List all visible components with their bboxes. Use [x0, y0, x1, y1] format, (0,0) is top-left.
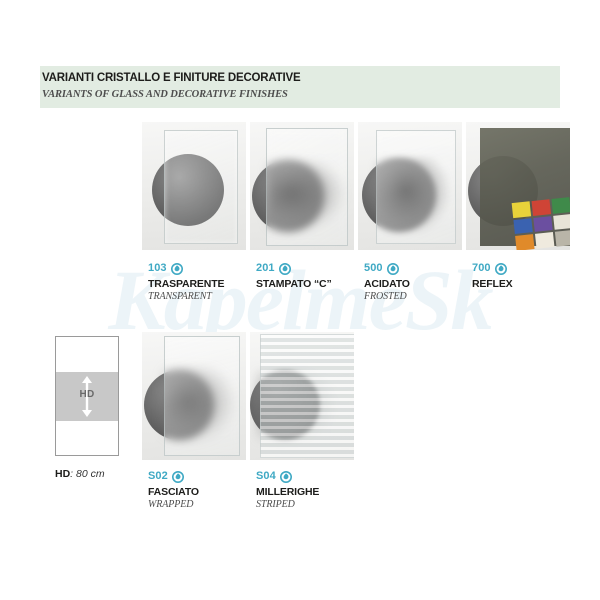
swatch-caption-S02: S02 FASCIATO WRAPPED: [148, 468, 258, 510]
swatch-image-S04[interactable]: [250, 332, 354, 460]
swatch-name-it: ACIDATO: [364, 278, 474, 290]
swatch-code: 500: [364, 262, 383, 274]
page-subtitle: VARIANTS OF GLASS AND DECORATIVE FINISHE…: [42, 89, 288, 100]
swatch-code: 700: [472, 262, 491, 274]
color-checker: [512, 197, 570, 250]
glass-plate: [260, 334, 354, 458]
swatch-image-700[interactable]: [466, 122, 570, 250]
color-chip: [533, 216, 552, 232]
color-chip: [551, 197, 570, 213]
swatch-code: 201: [256, 262, 275, 274]
swatch-caption-201: 201 STAMPATO “C”: [256, 260, 366, 291]
swatch-name-en: TRANSPARENT: [148, 291, 258, 302]
page-title: VARIANTI CRISTALLO E FINITURE DECORATIVE: [42, 72, 300, 84]
color-chip: [535, 232, 554, 248]
color-chip: [512, 201, 531, 217]
swatch-name-it: FASCIATO: [148, 486, 258, 498]
swatch-name-en: WRAPPED: [148, 499, 258, 510]
hd-arrow-label: HD: [79, 389, 94, 400]
droplet-circle-icon: [171, 262, 183, 274]
swatch-name-it: STAMPATO “C”: [256, 278, 366, 290]
catalog-page: VARIANTI CRISTALLO E FINITURE DECORATIVE…: [0, 0, 600, 600]
glass-plate: [164, 130, 238, 244]
color-chip: [515, 234, 534, 250]
color-chip: [555, 230, 570, 246]
swatch-name-it: MILLERIGHE: [256, 486, 366, 498]
swatch-image-103[interactable]: [142, 122, 246, 250]
color-chip: [532, 199, 551, 215]
droplet-circle-icon: [172, 470, 184, 482]
hd-caption-label: HD: [55, 468, 70, 480]
droplet-circle-icon: [280, 470, 292, 482]
swatch-name-it: REFLEX: [472, 278, 582, 290]
color-chip: [513, 218, 532, 234]
swatch-name-en: STRIPED: [256, 499, 366, 510]
swatch-name-en: FROSTED: [364, 291, 474, 302]
swatch-image-201[interactable]: [250, 122, 354, 250]
swatch-caption-103: 103 TRASPARENTE TRANSPARENT: [148, 260, 258, 302]
droplet-circle-icon: [279, 262, 291, 274]
refraction-blur: [374, 158, 450, 232]
swatch-code: S04: [256, 470, 276, 482]
swatch-code: 103: [148, 262, 167, 274]
swatch-caption-500: 500 ACIDATO FROSTED: [364, 260, 474, 302]
refraction-blur: [162, 368, 234, 442]
color-chip: [553, 214, 570, 230]
hd-caption-value: : 80 cm: [70, 468, 104, 480]
swatch-image-500[interactable]: [358, 122, 462, 250]
droplet-circle-icon: [495, 262, 507, 274]
swatch-code: S02: [148, 470, 168, 482]
swatch-caption-700: 700 REFLEX: [472, 260, 582, 291]
swatch-caption-S04: S04 MILLERIGHE STRIPED: [256, 468, 366, 510]
swatch-image-S02[interactable]: [142, 332, 246, 460]
hd-diagram: HD: [55, 336, 119, 456]
droplet-circle-icon: [387, 262, 399, 274]
swatch-name-it: TRASPARENTE: [148, 278, 258, 290]
refraction-blur: [268, 162, 344, 232]
